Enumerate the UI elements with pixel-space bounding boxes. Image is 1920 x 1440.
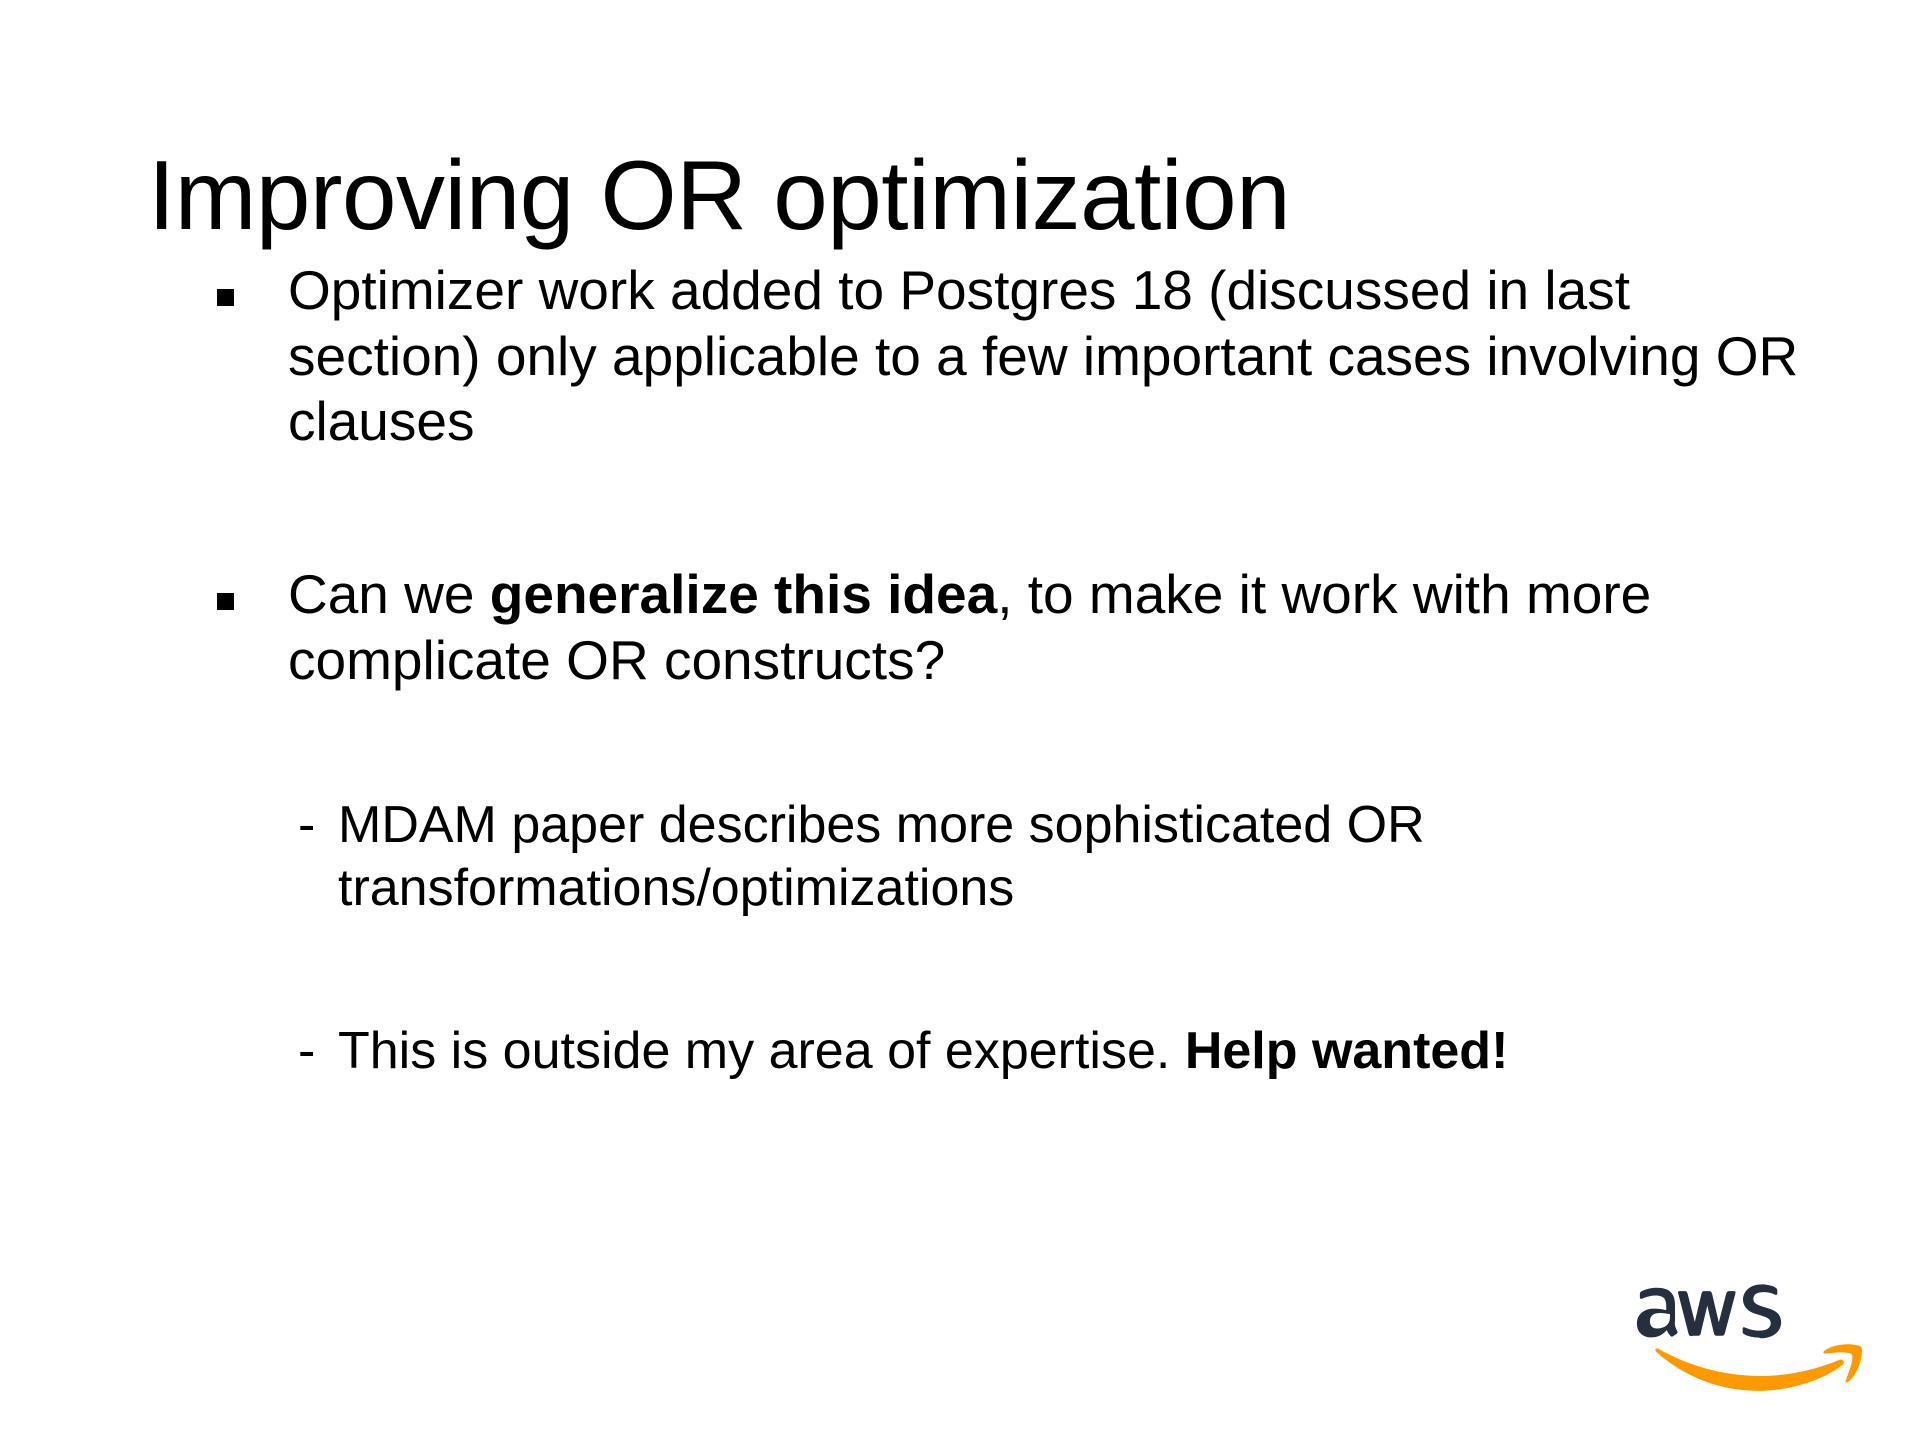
sub-bullet-group: - MDAM paper describes more sophisticate… [205, 794, 1805, 1084]
bullet-item-label: Can we generalize this idea, to make it … [288, 562, 1805, 693]
dash-bullet-icon: - [298, 1020, 315, 1083]
sub-bullet-item: - MDAM paper describes more sophisticate… [205, 794, 1805, 921]
sub-bullet-item: - This is outside my area of expertise. … [205, 1020, 1805, 1083]
bullet-item-label: Optimizer work added to Postgres 18 (dis… [288, 258, 1805, 455]
slide-body: Optimizer work added to Postgres 18 (dis… [205, 258, 1805, 1084]
aws-swoosh-icon [1655, 1344, 1862, 1391]
sub-bullet-text-emphasis: Help wanted! [1185, 1022, 1509, 1080]
page-title: Improving OR optimization [148, 144, 1290, 247]
slide-canvas: Improving OR optimization Optimizer work… [0, 0, 1920, 1440]
bullet-item: Optimizer work added to Postgres 18 (dis… [205, 258, 1805, 455]
dash-bullet-icon: - [298, 794, 315, 857]
bullet-text-emphasis: generalize this idea [490, 563, 997, 625]
square-bullet-icon [217, 289, 234, 306]
sub-bullet-label: MDAM paper describes more sophisticated … [338, 794, 1805, 921]
bullet-text-segment: Can we [288, 563, 490, 625]
aws-logo [1632, 1274, 1862, 1406]
bullet-item: Can we generalize this idea, to make it … [205, 562, 1805, 693]
aws-wordmark-icon [1637, 1284, 1781, 1338]
sub-bullet-text-segment: This is outside my area of expertise. [338, 1022, 1185, 1080]
sub-bullet-label: This is outside my area of expertise. He… [338, 1020, 1805, 1083]
square-bullet-icon [217, 593, 234, 610]
